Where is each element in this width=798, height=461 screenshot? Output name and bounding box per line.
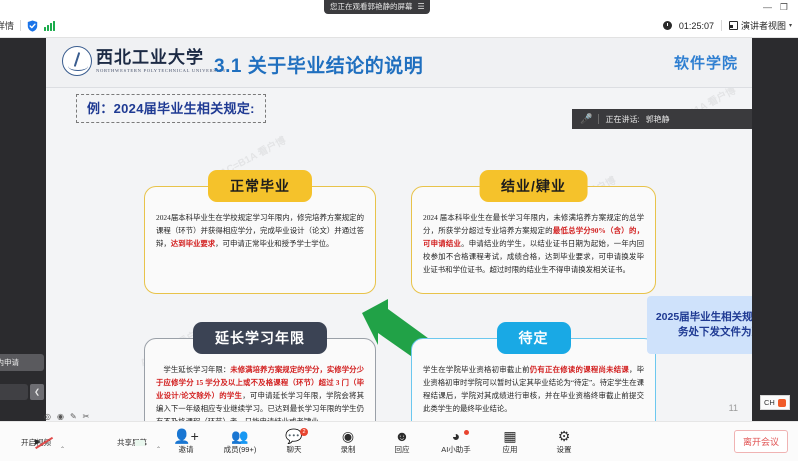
apps-label: 应用	[503, 445, 518, 454]
card-pending: 待定 学生在学院毕业资格初审截止前仍有正在修读的课程尚未结课，毕业资格初审时学院…	[411, 338, 656, 421]
reaction-icon: ☻	[395, 429, 410, 444]
grid-apps-icon: ▦	[503, 429, 516, 444]
chat-unread-badge: 2	[300, 428, 308, 436]
chat-overlay: 感觉像是没计划内申请 说点什么... ❮	[0, 332, 46, 421]
chevron-up-icon[interactable]: ⌃	[60, 446, 65, 453]
view-mode-label: 演讲者视图	[741, 19, 786, 32]
chevron-down-icon: ▾	[789, 22, 792, 29]
body-pre: 学生延长学习年限：	[156, 365, 230, 374]
reaction-label: 回应	[395, 445, 410, 454]
controls-center-group: 共享屏幕 ⌃ 👤+ 邀请 👥 成员(99+) 💬 2 聊天 ◉ 录制	[110, 429, 586, 454]
card-completion-dropout-title: 结业/肄业	[479, 170, 588, 202]
list-icon[interactable]: ☰	[418, 0, 424, 14]
example-label: 例：2024届毕业生相关规定:	[87, 101, 255, 116]
meeting-controls-bar: 开启视频 ⌃ 共享屏幕 ⌃ 👤+ 邀请 👥 成员(99+) 💬 2 聊天	[0, 421, 798, 461]
controls-left-group: 开启视频 ⌃	[0, 437, 58, 447]
invite-label: 邀请	[179, 445, 194, 454]
signal-bars-icon[interactable]	[44, 21, 55, 31]
meeting-detail-label[interactable]: 详情	[0, 19, 14, 32]
leave-meeting-button[interactable]: 离开会议	[734, 430, 788, 453]
university-name-en: NORTHWESTERN POLYTECHNICAL UNIVERSITY	[96, 67, 226, 74]
card-completion-dropout: 结业/肄业 2024 届本科毕业生在最长学习年限内，未修满培养方案规定的总学分，…	[411, 186, 656, 294]
card-normal-graduation-title: 正常毕业	[208, 170, 312, 202]
slide-header: 西北工业大学 NORTHWESTERN POLYTECHNICAL UNIVER…	[46, 38, 752, 88]
ime-mode-label: CH	[764, 398, 775, 407]
ime-icon	[778, 399, 786, 407]
meeting-topbar: 详情 01:25:07 演讲者视图 ▾	[0, 14, 798, 38]
body-pre: 学生在学院毕业资格初审截止前	[423, 365, 530, 374]
ai-assistant-button[interactable]: ◕ AI小助手	[434, 429, 478, 454]
record-button[interactable]: ◉ 录制	[326, 429, 370, 454]
department-title: 软件学院	[674, 52, 738, 73]
elapsed-time: 01:25:07	[679, 21, 714, 31]
university-name-cn: 西北工业大学	[96, 48, 226, 67]
viewing-screen-toast[interactable]: 您正在观看郭艳静的屏幕 ☰	[324, 0, 430, 14]
shield-check-icon[interactable]	[27, 20, 38, 32]
university-logo: 西北工业大学 NORTHWESTERN POLYTECHNICAL UNIVER…	[62, 46, 226, 76]
annotation-eraser-icon[interactable]: ✂	[83, 412, 90, 421]
settings-button[interactable]: ⚙ 设置	[542, 429, 586, 454]
presentation-slide: AC=B1A 看户博 AC=B1A 看户博 AC=B1A 看户博 AC=B1A …	[46, 38, 752, 421]
body-post: ，可申请正常毕业和授予学士学位。	[215, 239, 333, 248]
annotation-tool-icon[interactable]: ◉	[57, 412, 64, 421]
annotation-toolbar-remnant[interactable]: ◎ ◉ ✎ ✂	[44, 412, 89, 421]
record-label: 录制	[341, 445, 356, 454]
chevron-left-icon[interactable]: ❮	[30, 384, 44, 400]
card-extended-study-title: 延长学习年限	[193, 322, 327, 354]
divider	[721, 20, 722, 31]
apps-button[interactable]: ▦ 应用	[488, 429, 532, 454]
chevron-up-icon[interactable]: ⌃	[156, 446, 161, 453]
ai-assistant-icon: ◕	[452, 429, 460, 444]
ai-assistant-badge	[464, 430, 469, 435]
gear-icon: ⚙	[558, 429, 571, 444]
reaction-button[interactable]: ☻ 回应	[380, 429, 424, 454]
people-icon: 👥	[231, 429, 248, 444]
person-add-icon: 👤+	[173, 429, 199, 444]
view-mode-switcher[interactable]: 演讲者视图 ▾	[729, 19, 792, 32]
toggle-video-button[interactable]: 开启视频 ⌃	[14, 437, 58, 447]
speaking-name: 郭艳静	[646, 114, 670, 125]
chat-button[interactable]: 💬 2 聊天	[272, 429, 316, 454]
university-crest-icon	[62, 46, 92, 76]
share-screen-button[interactable]: 共享屏幕 ⌃	[110, 437, 154, 447]
minimize-button[interactable]: —	[763, 2, 772, 12]
annotation-pen-icon[interactable]: ✎	[70, 412, 77, 421]
card-extended-study: 延长学习年限 学生延长学习年限：未修满培养方案规定的学分，实修学分少于应修学分 …	[144, 338, 376, 421]
viewing-screen-toast-label: 您正在观看郭艳静的屏幕	[330, 0, 413, 14]
chat-label: 聊天	[287, 445, 302, 454]
slide-page-number: 11	[729, 403, 738, 413]
ai-assistant-label: AI小助手	[441, 445, 471, 454]
body-highlight: 仍有正在修读的课程尚未结课	[530, 365, 629, 374]
chat-input[interactable]: 说点什么...	[0, 384, 28, 400]
speaking-label: 正在讲话:	[605, 114, 639, 125]
body-highlight: 达到毕业要求	[171, 239, 215, 248]
topbar-right-group: 01:25:07 演讲者视图 ▾	[663, 19, 798, 32]
slide-title: 3.1 关于毕业结论的说明	[214, 51, 423, 78]
example-label-box: 例：2024届毕业生相关规定:	[76, 94, 266, 123]
speaker-view-icon	[729, 21, 738, 30]
divider	[20, 20, 21, 31]
settings-label: 设置	[557, 445, 572, 454]
topbar-left-group: 详情	[0, 19, 55, 32]
shared-screen-stage: AC=B1A 看户博 AC=B1A 看户博 AC=B1A 看户博 AC=B1A …	[0, 38, 798, 421]
blue-note-2025: 2025届毕业生相关规定以教务处下发文件为准	[647, 296, 752, 354]
active-speaker-indicator: 🎤 正在讲话: 郭艳静	[572, 109, 752, 129]
divider	[598, 114, 599, 124]
record-circle-icon: ◉	[342, 429, 354, 444]
maximize-button[interactable]: ❐	[780, 2, 788, 12]
card-normal-graduation: 正常毕业 2024届本科毕业生在学校规定学习年限内，修完培养方案规定的课程（环节…	[144, 186, 376, 294]
members-label: 成员(99+)	[224, 445, 257, 454]
invite-button[interactable]: 👤+ 邀请	[164, 429, 208, 454]
meeting-window: — ❐ 您正在观看郭艳静的屏幕 ☰ 详情 01:25:07 演讲者视图	[0, 0, 798, 461]
controls-right-group: 离开会议	[734, 430, 798, 453]
clock-icon	[663, 21, 672, 30]
card-pending-title: 待定	[497, 322, 571, 354]
members-button[interactable]: 👥 成员(99+)	[218, 429, 262, 454]
chat-message: 感觉像是没计划内申请	[0, 354, 44, 371]
ime-indicator[interactable]: CH	[760, 395, 790, 410]
mic-muted-icon: 🎤	[580, 114, 592, 125]
